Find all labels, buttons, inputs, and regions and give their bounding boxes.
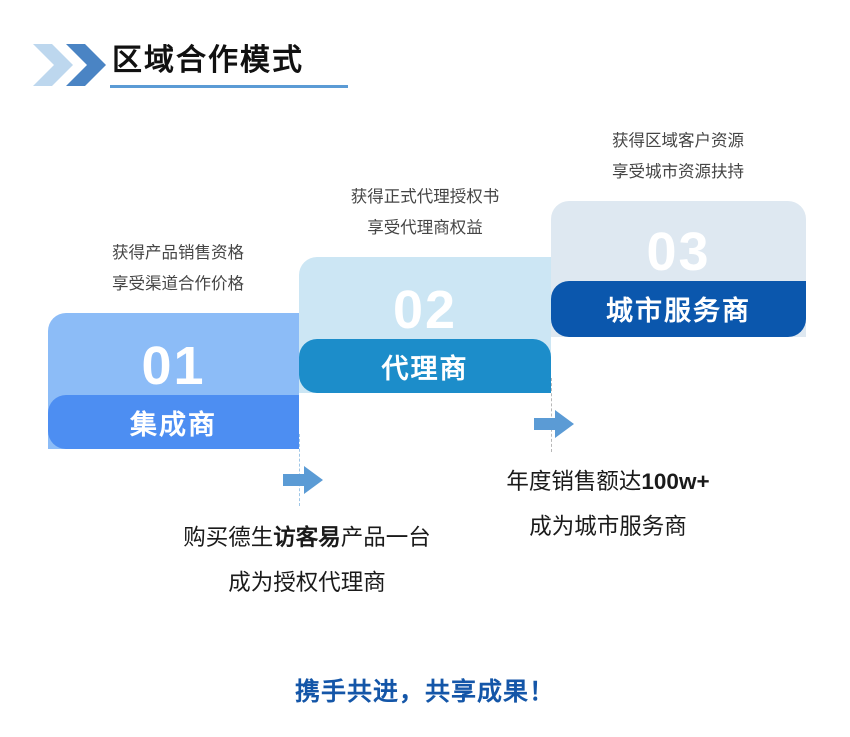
step-card-03[interactable]: 03 城市服务商 [551,201,806,337]
step-label-02: 代理商 [299,354,551,384]
requirement-text-1: 购买德生访客易产品一台 成为授权代理商 [142,515,472,605]
requirement-text-2-line2: 成为城市服务商 [443,504,773,549]
double-chevron-right-icon [33,44,109,86]
requirement-2-line1-prefix: 年度销售额达 [506,469,641,494]
step-caption-03-line1: 获得区域客户资源 [578,126,778,157]
step-label-03: 城市服务商 [551,296,806,326]
arrow-right-icon-2 [534,410,574,443]
step-caption-02-line2: 享受代理商权益 [325,213,525,244]
requirement-text-2-line1: 年度销售额达100w+ [443,459,773,504]
step-caption-01: 获得产品销售资格 享受渠道合作价格 [78,238,278,300]
arrow-right-icon-1 [283,466,323,499]
requirement-1-line1-suffix: 产品一台 [341,525,431,550]
header: 区域合作模式 [0,0,850,110]
requirement-2-line1-emphasis: 100w+ [641,469,709,494]
step-card-01[interactable]: 01 集成商 [48,313,299,449]
step-caption-03-line2: 享受城市资源扶持 [578,157,778,188]
footer-slogan: 携手共进，共享成果！ [0,672,850,708]
step-caption-02-line1: 获得正式代理授权书 [325,182,525,213]
step-caption-01-line1: 获得产品销售资格 [78,238,278,269]
requirement-text-1-line1: 购买德生访客易产品一台 [142,515,472,560]
page-title: 区域合作模式 [112,42,304,80]
step-number-03: 03 [551,225,806,279]
step-caption-01-line2: 享受渠道合作价格 [78,269,278,300]
step-number-02: 02 [299,283,551,337]
requirement-1-line1-prefix: 购买德生 [183,525,273,550]
requirement-text-2: 年度销售额达100w+ 成为城市服务商 [443,459,773,549]
requirement-text-1-line2: 成为授权代理商 [142,560,472,605]
title-underline [110,85,348,88]
slide-canvas: 区域合作模式 获得产品销售资格 享受渠道合作价格 获得正式代理授权书 享受代理商… [0,0,850,737]
step-caption-03: 获得区域客户资源 享受城市资源扶持 [578,126,778,188]
step-number-01: 01 [48,339,299,393]
step-label-01: 集成商 [48,410,299,440]
step-card-02[interactable]: 02 代理商 [299,257,551,393]
requirement-1-line1-emphasis: 访客易 [273,525,341,550]
step-caption-02: 获得正式代理授权书 享受代理商权益 [325,182,525,244]
